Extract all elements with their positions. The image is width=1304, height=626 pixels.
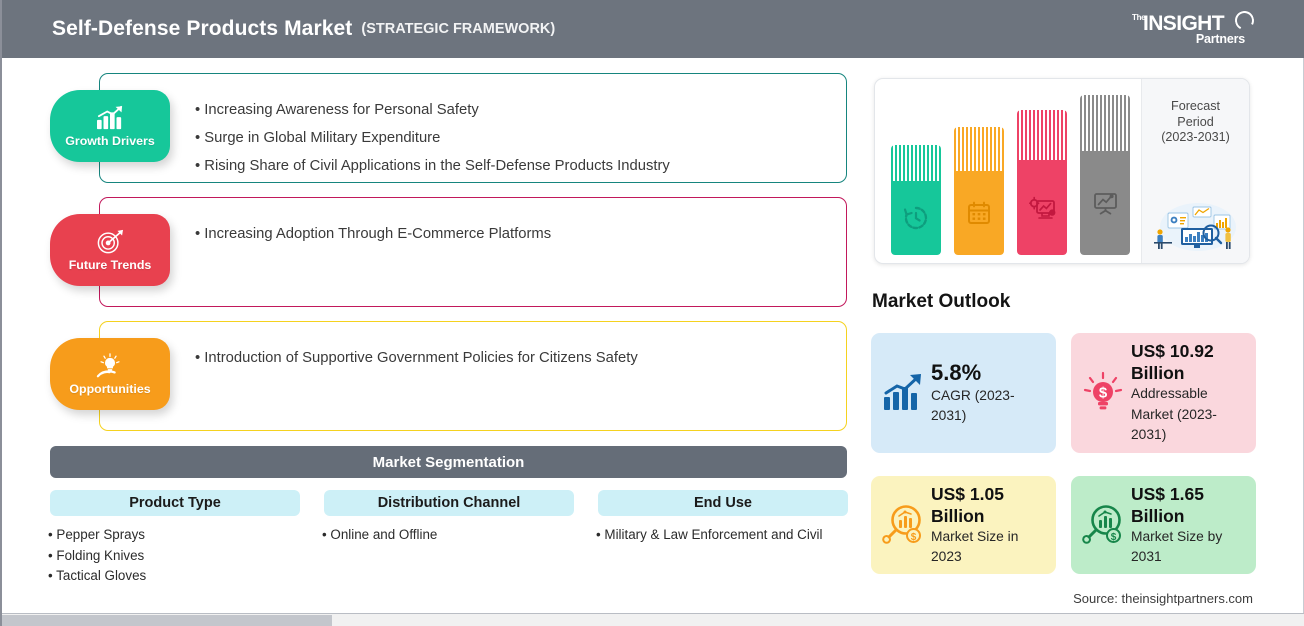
timeline-bar-solid [1080, 151, 1130, 255]
svg-text:$: $ [911, 532, 917, 543]
magnifier-chart-dollar-icon: $ [881, 503, 925, 547]
future-trends-bullet-list: Increasing Adoption Through E-Commerce P… [195, 198, 832, 306]
forecast-line-3: (2023-2031) [1142, 130, 1249, 146]
analytics-gear-icon [1029, 196, 1056, 220]
market-segmentation-header: Market Segmentation [50, 446, 847, 478]
timeline-bar-stripe [1017, 110, 1067, 160]
data-analysis-illustration-icon [1148, 197, 1244, 253]
insight-partners-logo[interactable]: The INSIGHT Partners [1132, 11, 1254, 49]
market-timeline-card: 2021-2022 HistoricalYears 2022 [874, 78, 1250, 264]
segment-chip-label: End Use [694, 495, 752, 511]
page-title: Self-Defense Products Market [52, 17, 352, 41]
timeline-bars: 2021-2022 HistoricalYears 2022 [875, 79, 1143, 263]
bar-chart-arrow-icon [95, 105, 125, 131]
timeline-bar-solid [891, 181, 941, 255]
outlook-card-value: US$ 1.05 Billion [931, 483, 1046, 527]
forecast-period-text: Forecast Period (2023-2031) [1142, 99, 1249, 146]
forecast-line-1: Forecast [1142, 99, 1249, 115]
outlook-card-subtitle: Addressable Market (2023-2031) [1131, 384, 1246, 446]
outlook-card-addressable-market: $ US$ 10.92 Billion Addressable Market (… [1071, 333, 1256, 453]
timeline-bar-stripe [954, 127, 1004, 171]
lightbulb-hand-icon [95, 353, 125, 379]
svg-text:$: $ [1111, 532, 1117, 543]
timeline-column-estimated: 2023 [1017, 110, 1067, 255]
market-outlook-title: Market Outlook [872, 291, 1010, 313]
horizontal-scrollbar[interactable] [2, 613, 1304, 626]
segment-chip-distribution-channel[interactable]: Distribution Channel [324, 490, 574, 516]
growth-drivers-box: Increasing Awareness for Personal Safety… [99, 73, 847, 183]
list-item: Increasing Adoption Through E-Commerce P… [195, 220, 832, 248]
badge-label: Future Trends [69, 258, 152, 272]
source-text: Source: theinsightpartners.com [1073, 591, 1253, 606]
presentation-screen-icon [1092, 191, 1119, 215]
timeline-column-base: 2022 Ba [954, 127, 1004, 255]
list-item: Rising Share of Civil Applications in th… [195, 152, 832, 180]
timeline-bar: 2031 ProjectedYear [1080, 95, 1130, 255]
timeline-bar-stripe [1080, 95, 1130, 151]
outlook-card-value: 5.8% [931, 360, 1046, 386]
page-subtitle: (STRATEGIC FRAMEWORK) [361, 21, 555, 37]
segment-chip-end-use[interactable]: End Use [598, 490, 848, 516]
opportunities-box: Introduction of Supportive Government Po… [99, 321, 847, 431]
market-segmentation-title: Market Segmentation [373, 454, 525, 471]
logo-arc-icon [1233, 9, 1257, 33]
list-item: Introduction of Supportive Government Po… [195, 344, 832, 372]
outlook-card-text: US$ 10.92 Billion Addressable Market (20… [1131, 340, 1246, 446]
list-item: Folding Knives [48, 546, 146, 567]
timeline-bar: 2022 Ba [954, 127, 1004, 255]
outlook-card-value: US$ 10.92 Billion [1131, 340, 1246, 384]
segment-chip-label: Product Type [129, 495, 221, 511]
opportunities-bullet-list: Introduction of Supportive Government Po… [195, 322, 832, 430]
outlook-card-cagr: 5.8% CAGR (2023-2031) [871, 333, 1056, 453]
logo-partners-text: Partners [1196, 32, 1245, 46]
badge-label: Growth Drivers [65, 134, 155, 148]
infographic-page: Self-Defense Products Market (STRATEGIC … [0, 0, 1304, 626]
growth-bar-arrow-icon [881, 371, 925, 415]
forecast-line-2: Period [1142, 115, 1249, 131]
list-item: Online and Offline [322, 525, 437, 546]
opportunities-badge[interactable]: Opportunities [50, 338, 170, 410]
list-item: Tactical Gloves [48, 566, 146, 587]
outlook-card-market-size-2031: $ US$ 1.65 Billion Market Size by 2031 [1071, 476, 1256, 574]
growth-drivers-badge[interactable]: Growth Drivers [50, 90, 170, 162]
list-item: Surge in Global Military Expenditure [195, 124, 832, 152]
segment-list-end-use: Military & Law Enforcement and Civil [596, 525, 822, 546]
magnifier-chart-dollar-icon: $ [1081, 503, 1125, 547]
history-clock-icon [903, 205, 929, 231]
outlook-card-text: US$ 1.05 Billion Market Size in 2023 [931, 483, 1046, 568]
outlook-card-subtitle: Market Size in 2023 [931, 527, 1046, 568]
timeline-bar: 2023 [1017, 110, 1067, 255]
timeline-column-historical: 2021-2022 HistoricalYears [891, 145, 941, 255]
timeline-column-projected: 2031 ProjectedYear [1080, 95, 1130, 255]
growth-drivers-bullet-list: Increasing Awareness for Personal Safety… [195, 74, 832, 182]
page-header: Self-Defense Products Market (STRATEGIC … [2, 0, 1304, 58]
future-trends-box: Increasing Adoption Through E-Commerce P… [99, 197, 847, 307]
outlook-card-subtitle: Market Size by 2031 [1131, 527, 1246, 568]
timeline-bar: 2021-2022 HistoricalYears [891, 145, 941, 255]
segment-chip-product-type[interactable]: Product Type [50, 490, 300, 516]
badge-label: Opportunities [69, 382, 150, 396]
segment-list-product-type: Pepper Sprays Folding Knives Tactical Gl… [48, 525, 146, 587]
logo-the-text: The [1132, 14, 1141, 21]
scrollbar-thumb[interactable] [2, 615, 332, 626]
calendar-icon [966, 200, 992, 226]
dollar-bulb-icon: $ [1081, 371, 1125, 415]
timeline-bar-solid [1017, 160, 1067, 255]
list-item: Pepper Sprays [48, 525, 146, 546]
timeline-bar-stripe [891, 145, 941, 181]
future-trends-badge[interactable]: Future Trends [50, 214, 170, 286]
outlook-card-subtitle: CAGR (2023-2031) [931, 386, 1046, 427]
segment-chip-label: Distribution Channel [378, 495, 521, 511]
forecast-period-panel: Forecast Period (2023-2031) [1141, 79, 1249, 263]
outlook-card-value: US$ 1.65 Billion [1131, 483, 1246, 527]
outlook-card-market-size-2023: $ US$ 1.05 Billion Market Size in 2023 [871, 476, 1056, 574]
timeline-bar-solid [954, 171, 1004, 255]
segment-list-distribution-channel: Online and Offline [322, 525, 437, 546]
list-item: Military & Law Enforcement and Civil [596, 525, 822, 546]
svg-text:$: $ [1099, 385, 1108, 402]
outlook-card-text: 5.8% CAGR (2023-2031) [931, 360, 1046, 427]
outlook-card-text: US$ 1.65 Billion Market Size by 2031 [1131, 483, 1246, 568]
list-item: Increasing Awareness for Personal Safety [195, 96, 832, 124]
target-dart-icon [95, 229, 125, 255]
